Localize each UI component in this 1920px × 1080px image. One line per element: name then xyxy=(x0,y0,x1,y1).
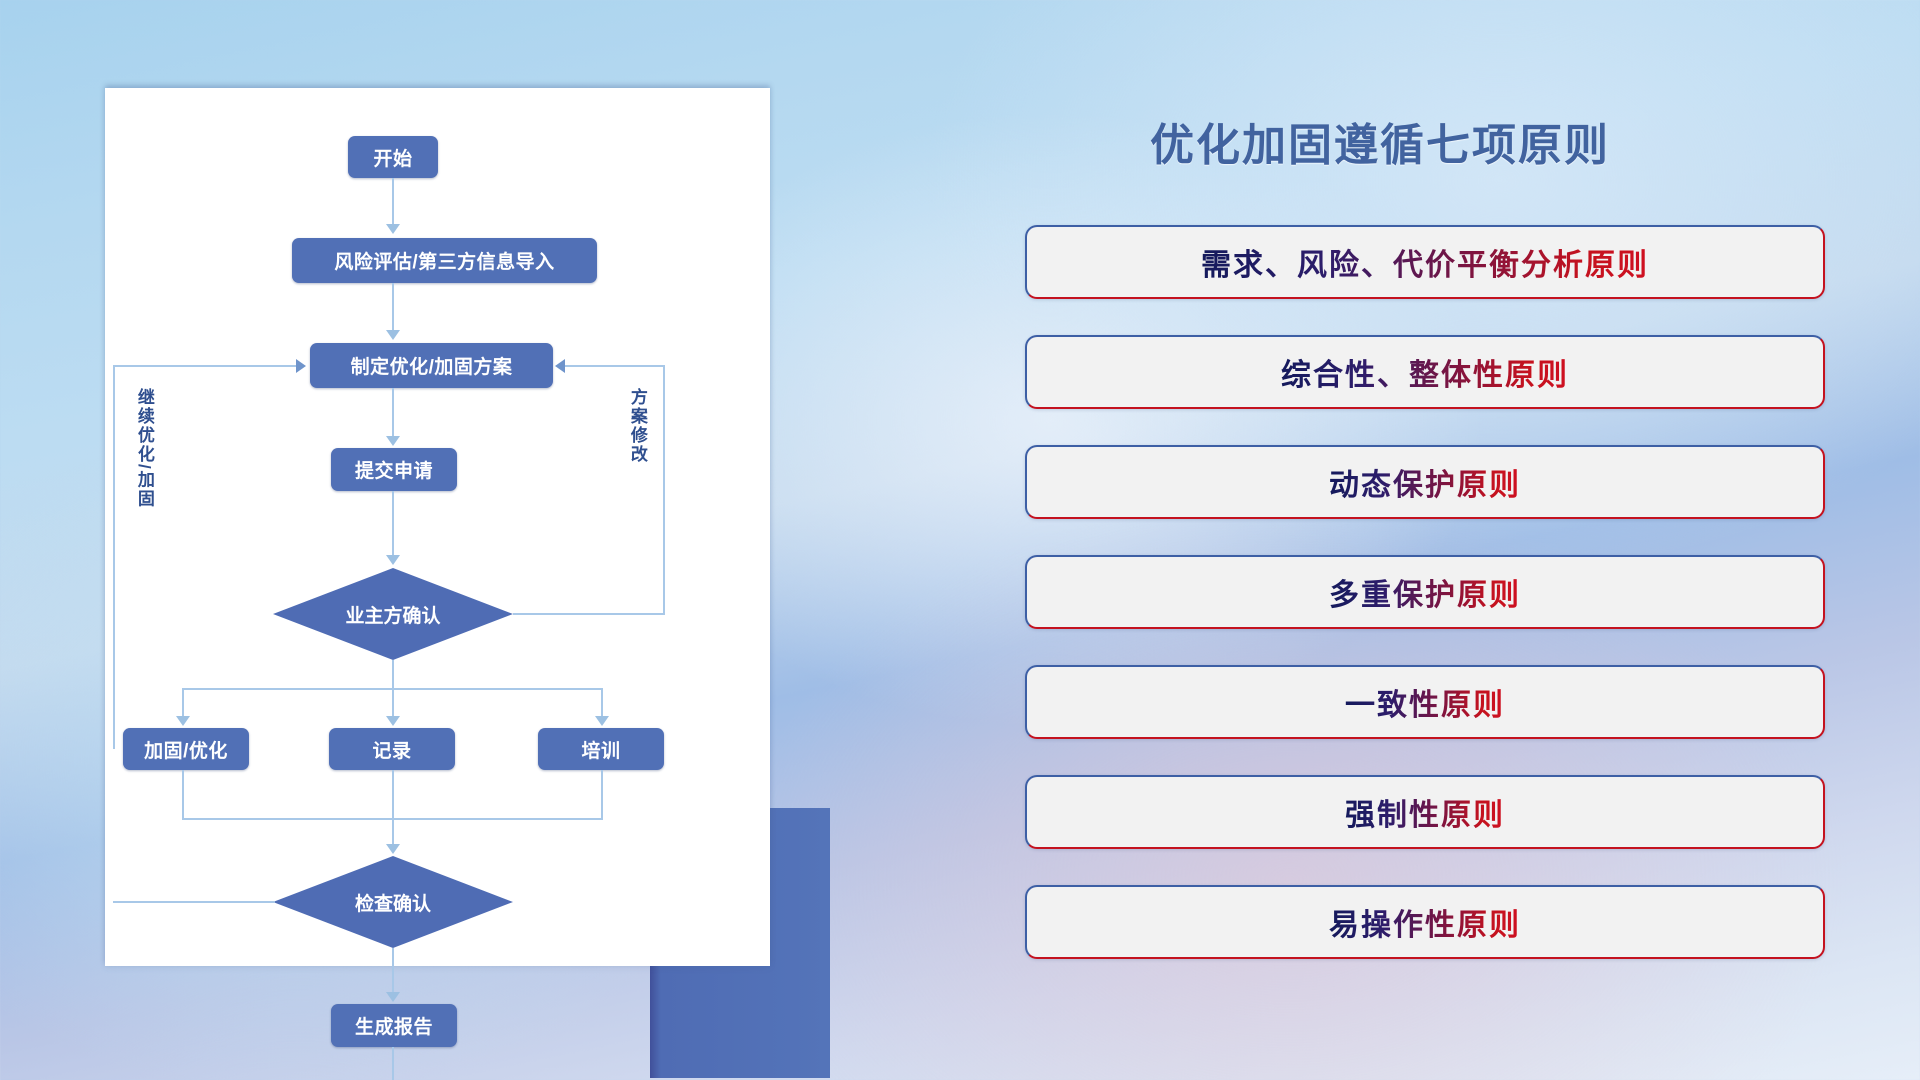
connector-left-loop-into-plan xyxy=(113,365,298,367)
arrow-to-check-icon xyxy=(386,844,400,854)
flow-node-training[interactable]: 培训 xyxy=(538,728,664,770)
arrow-to-train-icon xyxy=(595,716,609,726)
flow-node-start-label: 开始 xyxy=(373,144,412,171)
principle-item-3[interactable]: 动态保护原则 xyxy=(1025,445,1825,519)
edge-label-continue-optimize: 继续优化/加固 xyxy=(135,388,153,509)
flow-decision-check-label: 检查确认 xyxy=(355,889,431,916)
connector-right-loop-up xyxy=(663,365,665,614)
arrow-check-to-report-icon xyxy=(386,992,400,1002)
connector-reinforce-down xyxy=(182,770,184,820)
connector-train-down xyxy=(601,770,603,820)
flow-node-reinforce[interactable]: 加固/优化 xyxy=(123,728,249,770)
flow-node-start[interactable]: 开始 xyxy=(348,136,438,178)
connector-check-to-report xyxy=(392,948,394,998)
flow-node-submit-label: 提交申请 xyxy=(355,456,433,483)
flow-node-generate-report[interactable]: 生成报告 xyxy=(331,1004,457,1047)
principle-item-7[interactable]: 易操作性原则 xyxy=(1025,885,1825,959)
flow-node-risk-assessment[interactable]: 风险评估/第三方信息导入 xyxy=(292,238,597,283)
flow-node-training-label: 培训 xyxy=(581,736,620,763)
arrow-to-record-icon xyxy=(386,716,400,726)
connector-left-loop-up xyxy=(113,365,115,749)
flowchart-card: 开始 风险评估/第三方信息导入 制定优化/加固方案 提交申请 业主方确认 xyxy=(105,88,770,966)
principles-panel: 优化加固遵循七项原则 需求、风险、代价平衡分析原则 综合性、整体性原则 动态保护… xyxy=(1020,95,1850,1025)
arrow-plan-to-submit-icon xyxy=(386,436,400,446)
arrow-right-loop-into-plan-icon xyxy=(555,359,565,373)
flow-node-report-label: 生成报告 xyxy=(355,1012,433,1039)
principle-item-4-label: 多重保护原则 xyxy=(1329,570,1521,614)
connector-start-to-risk xyxy=(392,178,394,230)
principle-item-2[interactable]: 综合性、整体性原则 xyxy=(1025,335,1825,409)
principle-item-3-label: 动态保护原则 xyxy=(1329,460,1521,504)
flow-node-risk-label: 风险评估/第三方信息导入 xyxy=(334,247,554,274)
flow-node-reinforce-label: 加固/优化 xyxy=(144,736,228,763)
flowchart-panel: 开始 风险评估/第三方信息导入 制定优化/加固方案 提交申请 业主方确认 xyxy=(105,88,795,993)
flow-decision-owner-confirm[interactable]: 业主方确认 xyxy=(273,568,513,660)
connector-right-loop-into-plan xyxy=(565,365,664,367)
flow-decision-owner-label: 业主方确认 xyxy=(345,601,440,628)
arrow-to-reinforce-icon xyxy=(176,716,190,726)
connector-check-left-to-loop xyxy=(113,901,275,903)
principles-list: 需求、风险、代价平衡分析原则 综合性、整体性原则 动态保护原则 多重保护原则 一… xyxy=(1025,225,1825,995)
flow-decision-check-confirm[interactable]: 检查确认 xyxy=(273,856,513,948)
arrow-submit-to-owner-icon xyxy=(386,555,400,565)
flow-node-record-label: 记录 xyxy=(372,736,411,763)
connector-record-down xyxy=(392,770,394,850)
principle-item-6[interactable]: 强制性原则 xyxy=(1025,775,1825,849)
principle-item-1[interactable]: 需求、风险、代价平衡分析原则 xyxy=(1025,225,1825,299)
connector-owner-down xyxy=(392,660,394,690)
connector-submit-to-owner xyxy=(392,491,394,561)
flow-node-submit-application[interactable]: 提交申请 xyxy=(331,448,457,491)
connector-fanin-bus xyxy=(182,818,602,820)
principle-item-1-label: 需求、风险、代价平衡分析原则 xyxy=(1201,240,1649,284)
arrow-start-to-risk-icon xyxy=(386,224,400,234)
flow-node-make-plan[interactable]: 制定优化/加固方案 xyxy=(310,343,553,388)
panel-title: 优化加固遵循七项原则 xyxy=(1150,109,1610,173)
principle-item-6-label: 强制性原则 xyxy=(1345,790,1505,834)
flow-node-record[interactable]: 记录 xyxy=(329,728,455,770)
principle-item-5[interactable]: 一致性原则 xyxy=(1025,665,1825,739)
principle-item-5-label: 一致性原则 xyxy=(1345,680,1505,724)
edge-label-plan-revision: 方案修改 xyxy=(628,388,646,464)
connector-owner-right xyxy=(513,613,665,615)
arrow-left-loop-into-plan-icon xyxy=(296,359,306,373)
principle-item-7-label: 易操作性原则 xyxy=(1329,900,1521,944)
connector-risk-to-plan xyxy=(392,283,394,336)
principle-item-4[interactable]: 多重保护原则 xyxy=(1025,555,1825,629)
flow-node-make-plan-label: 制定优化/加固方案 xyxy=(351,352,513,379)
arrow-risk-to-plan-icon xyxy=(386,330,400,340)
connector-report-to-end xyxy=(392,1047,394,1080)
principle-item-2-label: 综合性、整体性原则 xyxy=(1281,350,1569,394)
connector-plan-to-submit xyxy=(392,388,394,442)
